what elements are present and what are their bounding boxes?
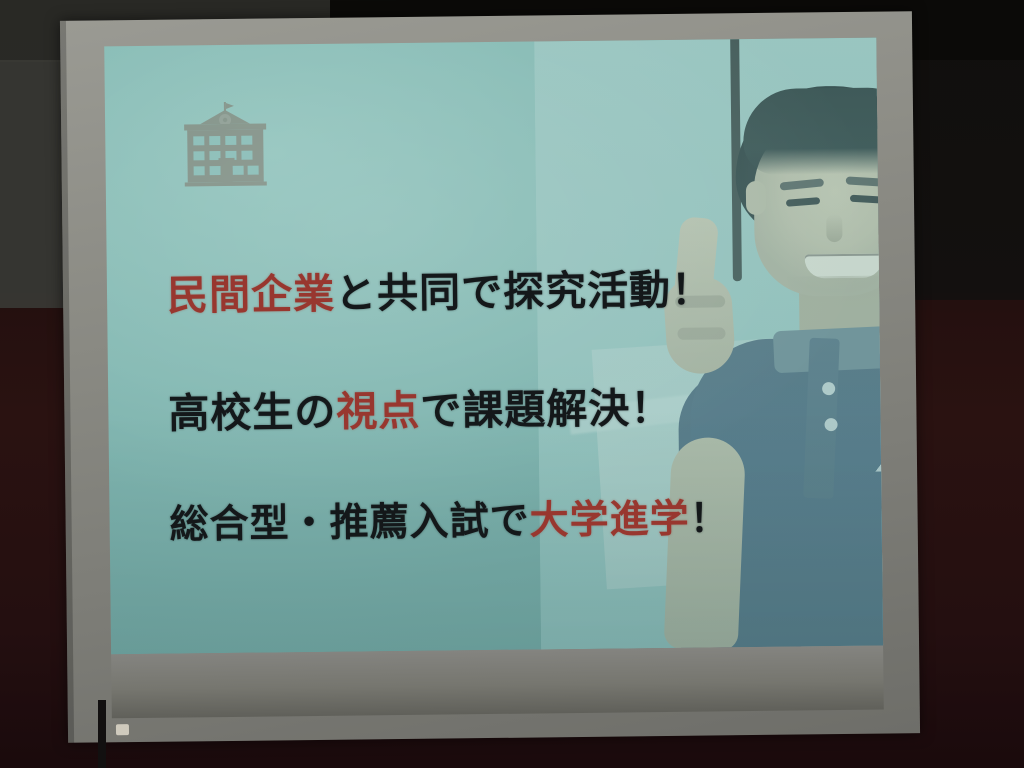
slide-line-3: 総合型・推薦入試で大学進学！ [169,487,730,549]
slide-line-2-pre: 高校生の [168,388,337,438]
slide-line-2-highlight: 視点 [336,387,421,436]
photo-of-projected-slide: 民間企業と共同で探究活動！ 高校生の視点で課題解決！ 総合型・推薦入試で大学進学… [0,0,1024,768]
screen-stand-pole [98,700,106,768]
slide-line-1: 民間企業と共同で探究活動！ [167,255,714,321]
slide-line-3-pre: 総合型・推薦入試で [169,499,530,548]
photo-button-bottom [824,418,837,431]
projected-slide-surface: 民間企業と共同で探究活動！ 高校生の視点で課題解決！ 総合型・推薦入試で大学進学… [104,38,883,655]
student-portrait-photo [534,38,883,650]
wall-left-grey-strip [0,60,66,308]
school-building-icon [170,99,281,190]
photo-nose [826,214,842,242]
photo-button-top [822,382,835,395]
projection-screen-frame: 民間企業と共同で探究活動！ 高校生の視点で課題解決！ 総合型・推薦入試で大学進学… [60,11,920,743]
slide-line-3-post: ！ [689,496,730,541]
slide-line-3-highlight: 大学進学 [529,497,690,544]
slide-line-2-post: で課題解決！ [420,384,673,435]
photo-knuckle-lower [677,327,725,340]
photo-ear-left [746,181,766,215]
photo-hair-fringe [743,87,883,175]
slide-line-1-highlight: 民間企業 [167,270,336,320]
slide-line-1-rest: と共同で探究活動！ [335,265,714,317]
slide-line-2: 高校生の視点で課題解決！ [168,374,673,440]
screen-bottom-bar [111,646,884,719]
screen-hook [116,724,129,735]
photo-chin [787,275,883,308]
